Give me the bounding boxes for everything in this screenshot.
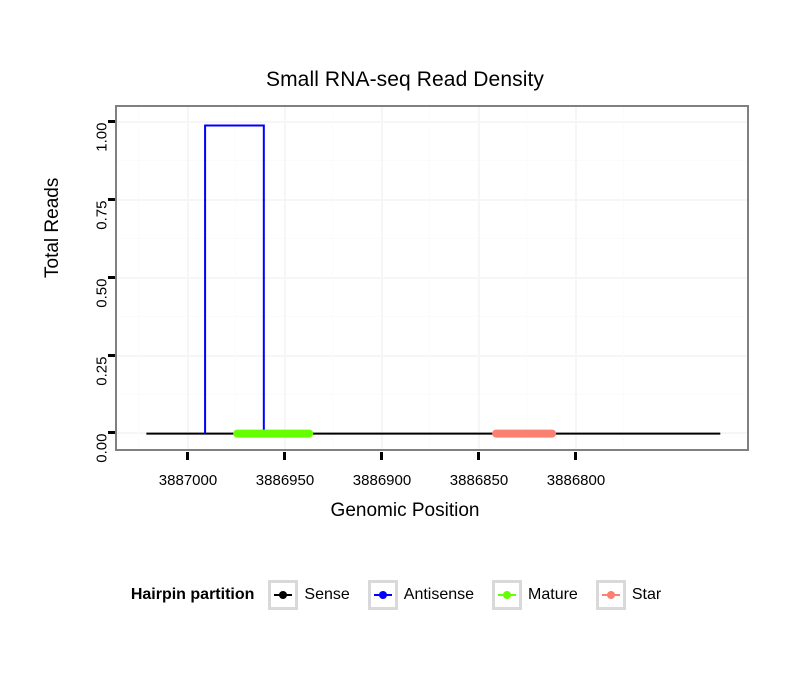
- x-axis-title: Genomic Position: [0, 500, 810, 522]
- legend-key-dot-icon: [503, 591, 511, 599]
- legend-title: Hairpin partition: [131, 586, 255, 604]
- y-tick-label: 0.50: [94, 279, 111, 335]
- y-tick-label: 0.75: [94, 201, 111, 257]
- legend-item-star[interactable]: Star: [596, 580, 671, 610]
- x-tick-mark: [283, 452, 286, 460]
- legend-key-dot-icon: [379, 591, 387, 599]
- legend-key-star: [596, 580, 626, 610]
- x-tick-label: 3886900: [353, 472, 411, 489]
- series-line-antisense: [205, 125, 264, 433]
- y-axis-title: Total Reads: [42, 178, 64, 278]
- x-tick-mark: [380, 452, 383, 460]
- y-tick-label: 0.25: [94, 357, 111, 413]
- series-svg: [117, 107, 747, 449]
- legend-key-mature: [492, 580, 522, 610]
- legend-label-mature: Mature: [528, 586, 578, 604]
- x-tick-label: 3886950: [256, 472, 314, 489]
- x-tick-mark: [477, 452, 480, 460]
- legend-item-antisense[interactable]: Antisense: [368, 580, 484, 610]
- y-tick-label: 0.00: [94, 434, 111, 490]
- x-tick-label: 3887000: [159, 472, 217, 489]
- series-layer: [117, 107, 747, 449]
- y-tick-label: 1.00: [94, 123, 111, 179]
- legend-label-sense: Sense: [304, 586, 349, 604]
- chart-title: Small RNA-seq Read Density: [0, 68, 810, 92]
- x-tick-mark: [574, 452, 577, 460]
- x-tick-label: 3886800: [547, 472, 605, 489]
- plot-panel: [115, 105, 749, 451]
- x-tick-label: 3886850: [450, 472, 508, 489]
- legend-key-dot-icon: [607, 591, 615, 599]
- x-tick-mark: [186, 452, 189, 460]
- legend: Hairpin partition Sense Antisense Mature: [0, 580, 810, 610]
- legend-key-sense: [268, 580, 298, 610]
- legend-item-sense[interactable]: Sense: [268, 580, 359, 610]
- chart-figure: Small RNA-seq Read Density Total Reads G…: [0, 0, 810, 690]
- legend-label-star: Star: [632, 586, 661, 604]
- legend-label-antisense: Antisense: [404, 586, 474, 604]
- legend-item-mature[interactable]: Mature: [492, 580, 588, 610]
- legend-key-dot-icon: [279, 591, 287, 599]
- legend-key-antisense: [368, 580, 398, 610]
